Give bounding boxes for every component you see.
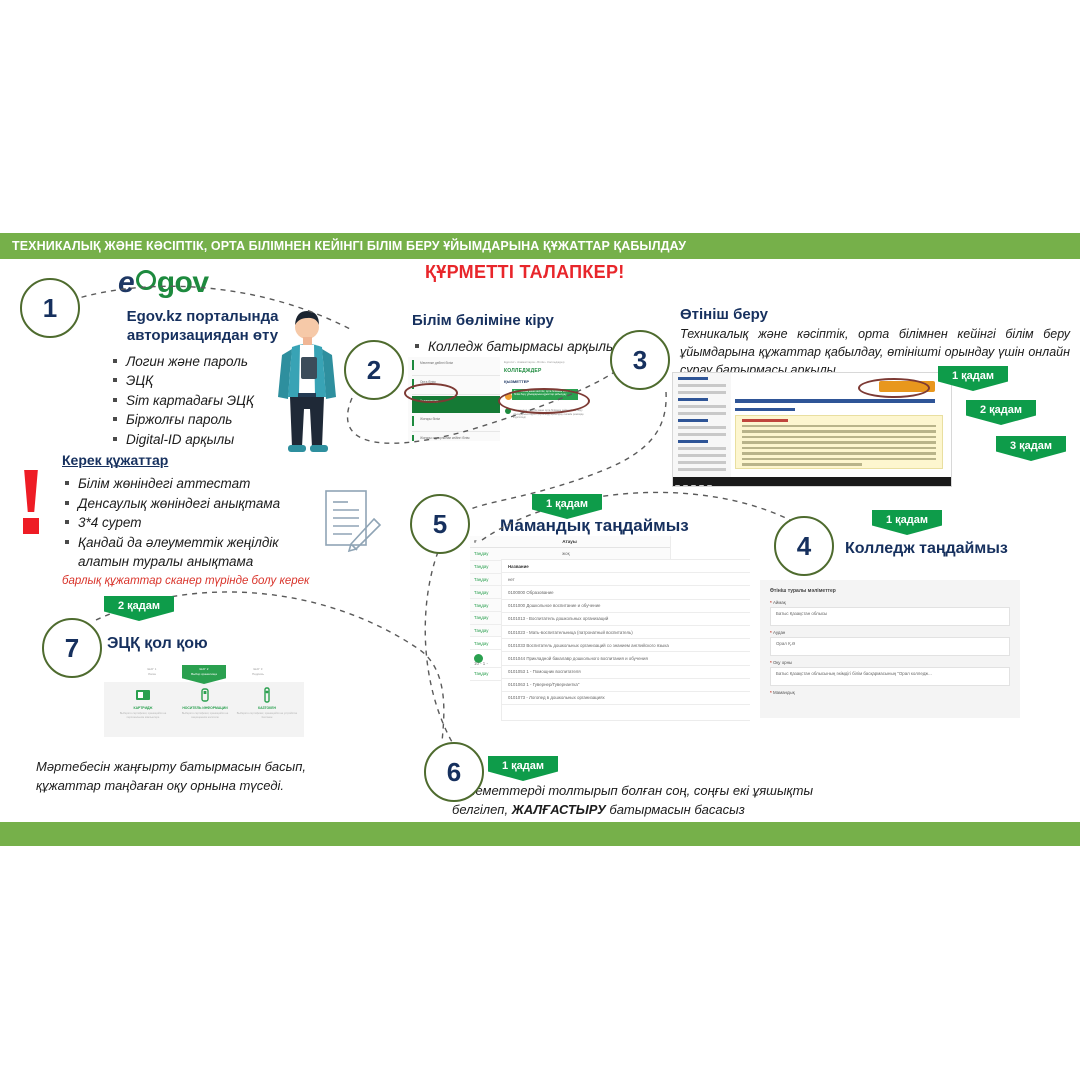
row-code: жоқ: [558, 548, 670, 561]
option-name: НОСИТЕЛЬ ИНФОРМАЦИИ: [174, 706, 236, 710]
col-index: #: [470, 536, 558, 548]
step-circle-6: 6: [424, 742, 484, 802]
tab-step3-sublabel: Подпись: [252, 672, 264, 676]
block-application: Өтініш беру Техникалық және кәсіптік, ор…: [680, 306, 1070, 379]
overlay-header: Название: [502, 560, 750, 573]
egov-logo: egov: [118, 266, 209, 300]
services-subheading: ҚЫЗМЕТТЕР: [504, 379, 600, 384]
district-input[interactable]: Орал Қ.Ә: [770, 637, 1010, 656]
step-badge-2-block7: 2 қадам: [104, 596, 174, 621]
tab-step3-label: ШАГ 3: [254, 667, 263, 671]
table-header-row: # Атауы: [470, 536, 670, 548]
list-item: 3*4 сурет: [62, 513, 317, 533]
usb-drive-icon: [197, 687, 213, 703]
list-item: 0100000 Образование: [502, 586, 750, 599]
list-item: Денсаулық жөніндегі анықтама: [62, 494, 317, 514]
browser-sidebar: [673, 373, 731, 477]
tab-step1-label: ШАГ 1: [148, 667, 157, 671]
option-kaztoken[interactable]: КАЗТОКЕН Выберите сертификат, хранящийся…: [236, 687, 298, 719]
form-section-title: Өтініш туралы мәліметтер: [760, 580, 1020, 596]
screenshot-specialty-table: # Атауы Таңдаужоқ Таңдау0100000 0 - Білі…: [470, 536, 750, 736]
step-badge-1-block4: 1 қадам: [872, 510, 942, 535]
menu-item-postgraduate[interactable]: Жоғары оқу орнынан кейінгі білім: [412, 433, 500, 441]
option-name: КАРТРИДЖ: [112, 706, 174, 710]
list-item: 0101044 Прикладной бакалавр дошкольного …: [502, 652, 750, 665]
documents-note: барлық құжаттар сканер түрінде болу кере…: [62, 574, 317, 589]
list-item: 0101000 Дошкольное воспитание и обучение: [502, 600, 750, 613]
institution-input[interactable]: Батыс Қазақстан облысының әкімдігі білім…: [770, 667, 1010, 686]
documents-bullets: Білім жөніндегі аттестат Денсаулық жөнін…: [62, 474, 317, 572]
block6-note-bold: ЖАЛҒАСТЫРУ: [512, 802, 606, 817]
block6-note-part2: батырмасын басасыз: [606, 802, 745, 817]
label-text: Мамандық: [773, 690, 795, 695]
block7-note: Мәртебесін жаңғырту батырмасын басып, құ…: [36, 758, 371, 796]
select-link[interactable]: Таңдау: [470, 548, 558, 561]
infographic-canvas: ТЕХНИКАЛЫҚ ЖӘНЕ КӘСІПТІК, ОРТА БІЛІМНЕН …: [0, 0, 1080, 1080]
page-heading-bar: [735, 399, 935, 403]
page-subheading-bar: [735, 408, 795, 411]
screenshot-college-form: Өтініш туралы мәліметтер * Аймақ Батыс Қ…: [760, 580, 1020, 718]
list-item: Білім жөніндегі аттестат: [62, 474, 317, 494]
step-circle-4: 4: [774, 516, 834, 576]
step-circle-1: 1: [20, 278, 80, 338]
menu-item-preschool[interactable]: Мектепке дейінгі білім: [412, 358, 500, 376]
tab-step1[interactable]: ШАГ 1 Логин: [130, 665, 174, 681]
screenshot-ncalayer: ШАГ 1 Логин ШАГ 2 Выбор хранилища ШАГ 3 …: [104, 665, 304, 737]
block5-title: Мамандық таңдаймыз: [500, 516, 689, 536]
header-banner: ТЕХНИКАЛЫҚ ЖӘНЕ КӘСІПТІК, ОРТА БІЛІМНЕН …: [0, 233, 1080, 259]
label-text: Аймақ: [773, 600, 786, 605]
logo-gov-text: gov: [157, 266, 209, 299]
step-badge-1-block6: 1 қадам: [488, 756, 558, 781]
highlight-ellipse-order-button: [858, 378, 930, 398]
field-label-specialty: * Мамандық: [760, 686, 1020, 697]
tab-step2-sublabel: Выбор хранилища: [191, 672, 217, 676]
student-illustration: [268, 305, 346, 460]
option-desc: Выберите сертификат, хранящийся на защищ…: [174, 712, 236, 719]
breadcrumb: Egov.kz › Азаматтарға › Білім › Колледжд…: [504, 360, 600, 364]
step-circle-2: 2: [344, 340, 404, 400]
specialty-name-overlay: Название нет 0100000 Образование 0101000…: [502, 560, 750, 705]
step-badge-2-block3: 2 қадам: [966, 400, 1036, 425]
field-label-institution: * Оқу орны: [760, 656, 1020, 667]
warning-exclamation-icon: [22, 470, 40, 534]
step-circle-5: 5: [410, 494, 470, 554]
os-taskbar: [673, 477, 951, 486]
list-item: Қандай да әлеуметтік жеңілдік алатын тур…: [62, 533, 317, 572]
menu-item-higher[interactable]: Жоғары білім: [412, 414, 500, 432]
logo-e-text: e: [118, 266, 135, 299]
tab-step1-sublabel: Логин: [148, 672, 156, 676]
list-item: 0101063 1 - Гувернер/Гувернантка": [502, 679, 750, 692]
highlight-ellipse-link: [498, 388, 590, 414]
highlight-ellipse-menu: [404, 383, 458, 403]
notice-box: [735, 415, 943, 469]
list-item: 0101013 - Воспитатель дошкольных организ…: [502, 613, 750, 626]
refresh-circle-icon: [136, 270, 156, 290]
option-desc: Выберите сертификат, хранящийся на персо…: [112, 712, 174, 719]
list-item: нет: [502, 573, 750, 586]
step-badge-3-block3: 3 қадам: [996, 436, 1066, 461]
field-label-region: * Аймақ: [760, 596, 1020, 607]
table-row[interactable]: Таңдаужоқ: [470, 548, 670, 561]
block6-note: мәлеметтерді толтырып болған соң, соңғы …: [452, 782, 852, 820]
token-icon: [259, 687, 275, 703]
label-text: Аудан: [773, 630, 785, 635]
block2-title: Білім бөліміне кіру: [412, 312, 662, 331]
document-pencil-icon: [322, 487, 384, 559]
label-text: Оқу орны: [773, 660, 792, 665]
list-item: 0101073 - Логопед в дошкольных организац…: [502, 692, 750, 705]
list-item: 0101033 Воспитатель дошкольных организац…: [502, 639, 750, 652]
table-pager[interactable]: 10 - 1 -: [470, 658, 492, 669]
ncalayer-tabs: ШАГ 1 Логин ШАГ 2 Выбор хранилища ШАГ 3 …: [104, 665, 304, 682]
list-item: 0101053 1 - Помощник воспитателя: [502, 666, 750, 679]
option-desc: Выберите сертификат, хранящийся на устро…: [236, 712, 298, 719]
content-heading: КОЛЛЕДЖДЕР: [504, 368, 600, 374]
region-input[interactable]: Батыс Қазақстан облысы: [770, 607, 1010, 626]
block3-title: Өтініш беру: [680, 306, 1070, 325]
option-cartridge[interactable]: КАРТРИДЖ Выберите сертификат, хранящийся…: [112, 687, 174, 719]
tab-step3[interactable]: ШАГ 3 Подпись: [236, 665, 280, 681]
cartridge-icon: [135, 687, 151, 703]
block7-title: ЭЦҚ қол қою: [107, 635, 208, 653]
step-circle-3: 3: [610, 330, 670, 390]
list-item: 0101023 - Мать-воспитательница (патронат…: [502, 626, 750, 639]
documents-title: Керек құжаттар: [62, 452, 317, 468]
header-banner-text: ТЕХНИКАЛЫҚ ЖӘНЕ КӘСІПТІК, ОРТА БІЛІМНЕН …: [0, 233, 1080, 259]
col-name: Атауы: [558, 536, 670, 548]
tab-step2-label: ШАГ 2: [200, 667, 209, 671]
block-required-documents: Керек құжаттар Білім жөніндегі аттестат …: [62, 452, 317, 589]
block3-body: Техникалық және кәсіптік, орта білімнен …: [680, 325, 1070, 379]
option-name: КАЗТОКЕН: [236, 706, 298, 710]
tab-step2[interactable]: ШАГ 2 Выбор хранилища: [182, 665, 226, 684]
footer-banner: [0, 822, 1080, 846]
field-label-district: * Аудан: [760, 626, 1020, 637]
option-storage[interactable]: НОСИТЕЛЬ ИНФОРМАЦИИ Выберите сертификат,…: [174, 687, 236, 719]
page-title: ҚҰРМЕТТІ ТАЛАПКЕР!: [425, 262, 885, 283]
block4-title: Колледж таңдаймыз: [845, 540, 1008, 558]
step-circle-7: 7: [42, 618, 102, 678]
